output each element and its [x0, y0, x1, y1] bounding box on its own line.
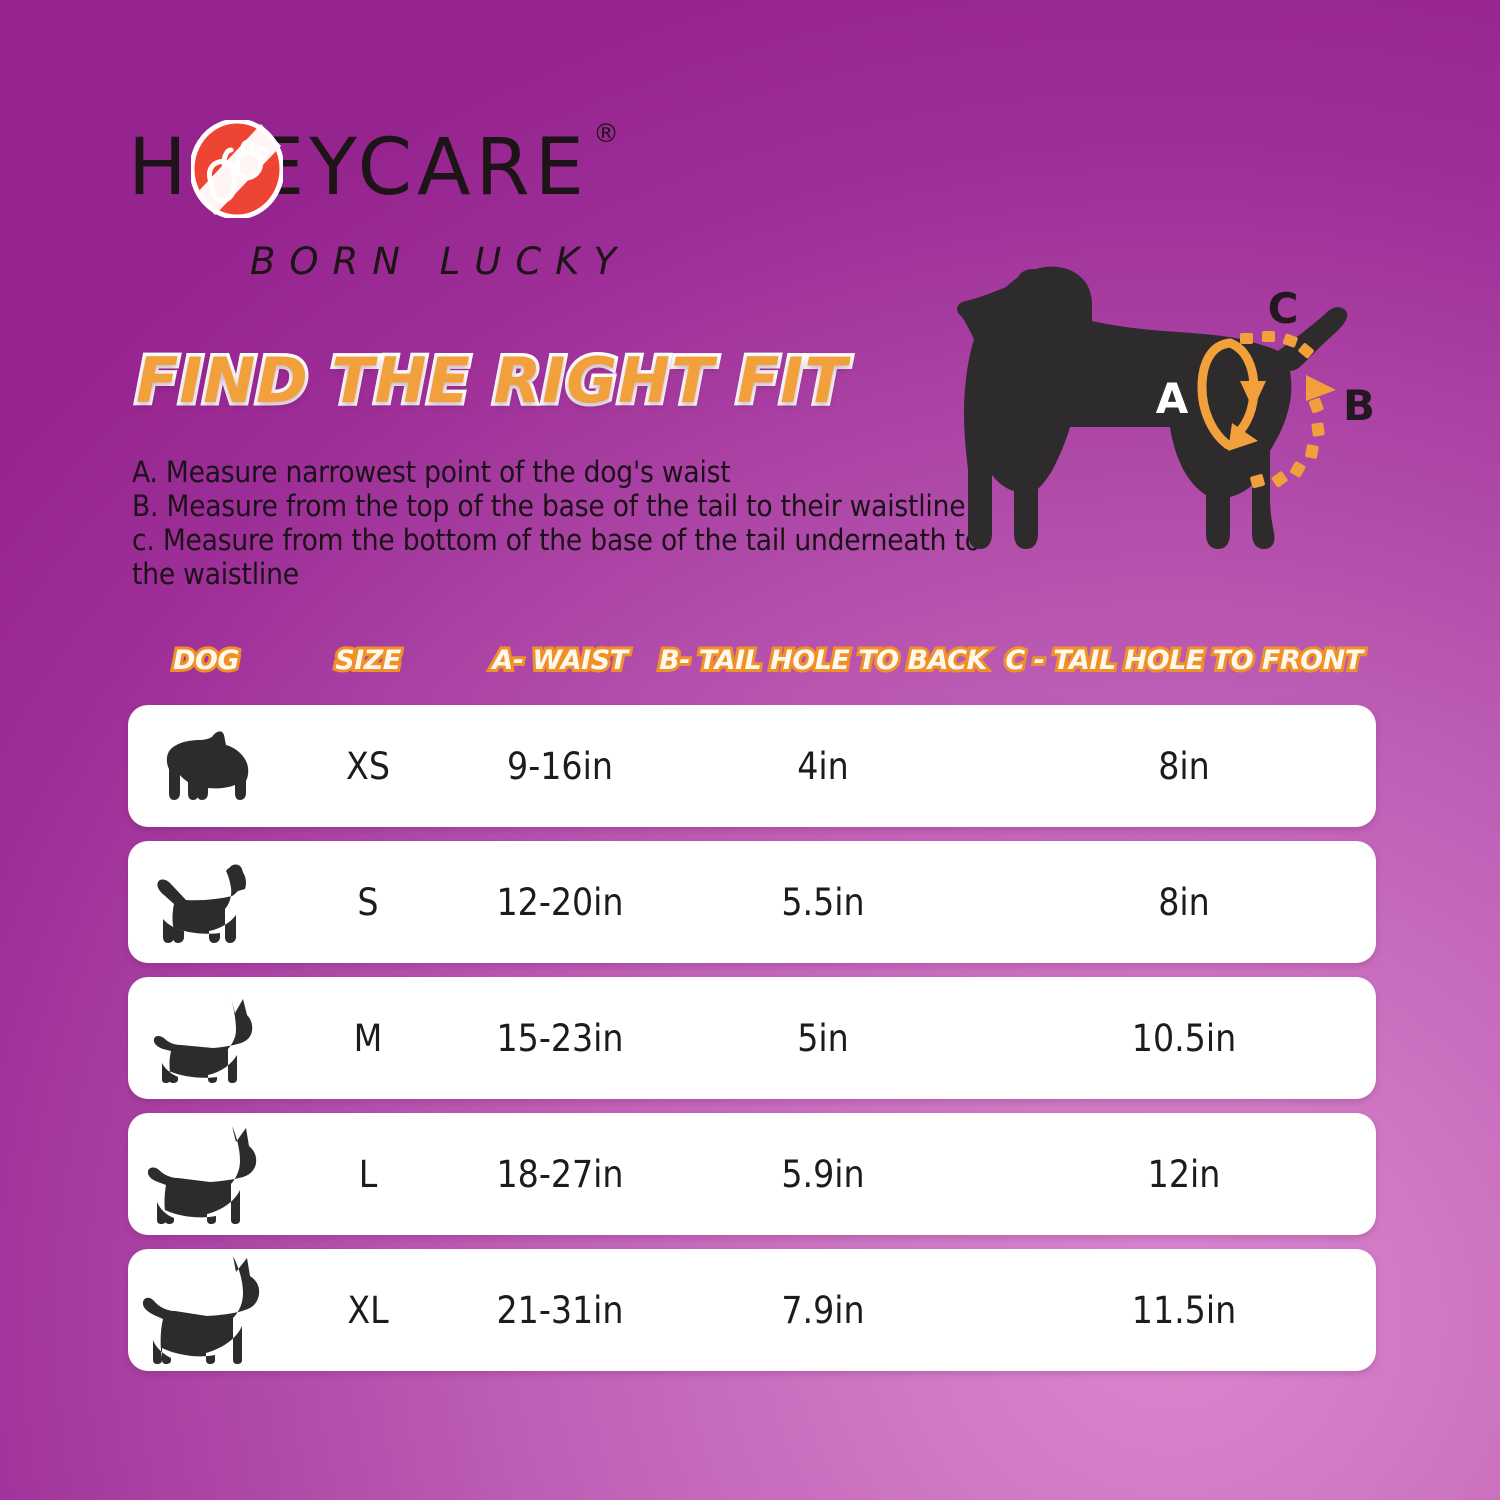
cell-size: L — [293, 1113, 443, 1235]
table-row: L 18-27in 5.9in 12in — [128, 1113, 1376, 1235]
cell-size: XL — [293, 1249, 443, 1371]
table-row: XS 9-16in 4in 8in — [128, 705, 1376, 827]
diagram-label-c: C — [1268, 284, 1299, 333]
doberman-silhouette-icon — [126, 1113, 286, 1235]
cell-waist: 12-20in — [445, 841, 675, 963]
terrier-silhouette-icon — [126, 841, 286, 963]
brand-tagline: BORN LUCKY — [250, 240, 888, 283]
cell-tail-to-back: 5in — [693, 977, 953, 1099]
cell-tail-to-back: 5.9in — [693, 1113, 953, 1235]
cell-waist: 18-27in — [445, 1113, 675, 1235]
pinscher-silhouette-icon — [126, 977, 286, 1099]
table-header-row: DOG SIZE A- WAIST B- TAIL HOLE TO BACK C… — [128, 645, 1376, 687]
cell-tail-to-back: 7.9in — [693, 1249, 953, 1371]
cell-waist: 21-31in — [445, 1249, 675, 1371]
diagram-label-a: A — [1156, 374, 1189, 423]
column-header-tail-to-front: C - TAIL HOLE TO FRONT — [1005, 645, 1362, 676]
pug-silhouette-icon — [126, 705, 286, 827]
size-table-rows: XS 9-16in 4in 8in S 12-20in 5.5in 8in — [128, 705, 1376, 1385]
instruction-line-c: c. Measure from the bottom of the base o… — [132, 523, 1012, 591]
cell-waist: 9-16in — [445, 705, 675, 827]
cell-tail-to-front: 12in — [1034, 1113, 1334, 1235]
cell-waist: 15-23in — [445, 977, 675, 1099]
table-row: M 15-23in 5in 10.5in — [128, 977, 1376, 1099]
brand-wordmark: H NEYCARE ® — [128, 118, 888, 218]
paw-in-hand-logo-icon — [191, 120, 283, 218]
table-row: S 12-20in 5.5in 8in — [128, 841, 1376, 963]
measure-instructions: A. Measure narrowest point of the dog's … — [132, 455, 1012, 591]
cell-tail-to-back: 5.5in — [693, 841, 953, 963]
great-dane-silhouette-icon — [126, 1249, 286, 1371]
column-header-waist: A- WAIST — [492, 645, 627, 676]
cell-size: S — [293, 841, 443, 963]
cell-tail-to-front: 8in — [1034, 841, 1334, 963]
column-header-size: SIZE — [335, 645, 401, 676]
column-header-dog: DOG — [173, 645, 239, 676]
registered-trademark-symbol: ® — [593, 119, 619, 149]
cell-tail-to-back: 4in — [693, 705, 953, 827]
wordmark-text-part1: H — [128, 129, 192, 207]
table-row: XL 21-31in 7.9in 11.5in — [128, 1249, 1376, 1371]
column-header-tail-to-back: B- TAIL HOLE TO BACK — [659, 645, 987, 676]
instruction-line-a: A. Measure narrowest point of the dog's … — [132, 455, 1012, 489]
dog-measurement-diagram: A B C — [940, 255, 1390, 605]
measurement-arrow-b — [1306, 375, 1336, 401]
size-chart-page: H NEYCARE ® BORN LUCKY FIND THE RIGHT FI… — [0, 0, 1500, 1500]
cell-tail-to-front: 11.5in — [1034, 1249, 1334, 1371]
cell-tail-to-front: 8in — [1034, 705, 1334, 827]
instruction-line-b: B. Measure from the top of the base of t… — [132, 489, 1012, 523]
cell-tail-to-front: 10.5in — [1034, 977, 1334, 1099]
page-title: FIND THE RIGHT FIT — [136, 344, 848, 417]
cell-size: XS — [293, 705, 443, 827]
diagram-label-b: B — [1343, 381, 1375, 430]
brand-logo: H NEYCARE ® BORN LUCKY — [128, 118, 888, 293]
cell-size: M — [293, 977, 443, 1099]
